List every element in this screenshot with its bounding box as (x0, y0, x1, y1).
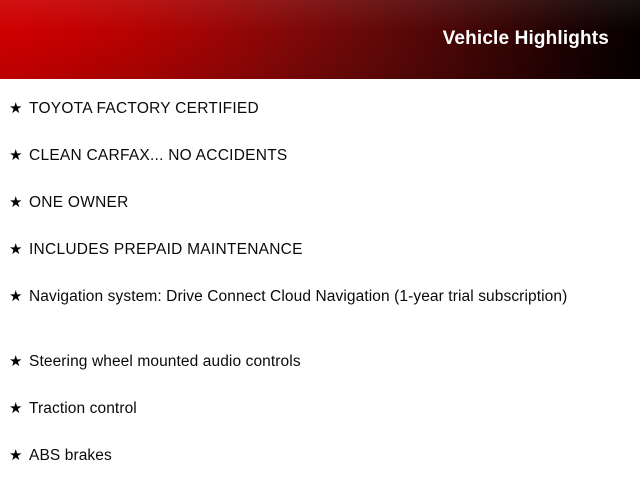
star-bullet-icon: ★ (9, 397, 25, 420)
list-item-label: INCLUDES PREPAID MAINTENANCE (29, 238, 640, 261)
star-bullet-icon: ★ (9, 285, 25, 308)
star-bullet-icon: ★ (9, 144, 25, 167)
list-item-label: CLEAN CARFAX... NO ACCIDENTS (29, 144, 640, 167)
list-item: ★TOYOTA FACTORY CERTIFIED (0, 97, 640, 120)
vehicle-highlights-page: Vehicle Highlights ★TOYOTA FACTORY CERTI… (0, 0, 640, 480)
list-item-label: TOYOTA FACTORY CERTIFIED (29, 97, 640, 120)
list-item-label: Navigation system: Drive Connect Cloud N… (29, 285, 640, 308)
star-bullet-icon: ★ (9, 191, 25, 214)
list-item-label: Steering wheel mounted audio controls (29, 350, 640, 373)
list-item-label: Traction control (29, 397, 640, 420)
page-title: Vehicle Highlights (443, 28, 609, 50)
star-bullet-icon: ★ (9, 238, 25, 261)
list-item: ★ABS brakes (0, 444, 640, 467)
list-item: ★INCLUDES PREPAID MAINTENANCE (0, 238, 640, 261)
list-item: ★CLEAN CARFAX... NO ACCIDENTS (0, 144, 640, 167)
star-bullet-icon: ★ (9, 444, 25, 467)
list-item-label: ABS brakes (29, 444, 640, 467)
list-item: ★Steering wheel mounted audio controls (0, 350, 640, 373)
list-item: ★ONE OWNER (0, 191, 640, 214)
list-item: ★Traction control (0, 397, 640, 420)
list-item-label: ONE OWNER (29, 191, 640, 214)
star-bullet-icon: ★ (9, 97, 25, 120)
star-bullet-icon: ★ (9, 350, 25, 373)
list-item: ★Navigation system: Drive Connect Cloud … (0, 285, 640, 308)
header-banner: Vehicle Highlights (0, 0, 640, 79)
